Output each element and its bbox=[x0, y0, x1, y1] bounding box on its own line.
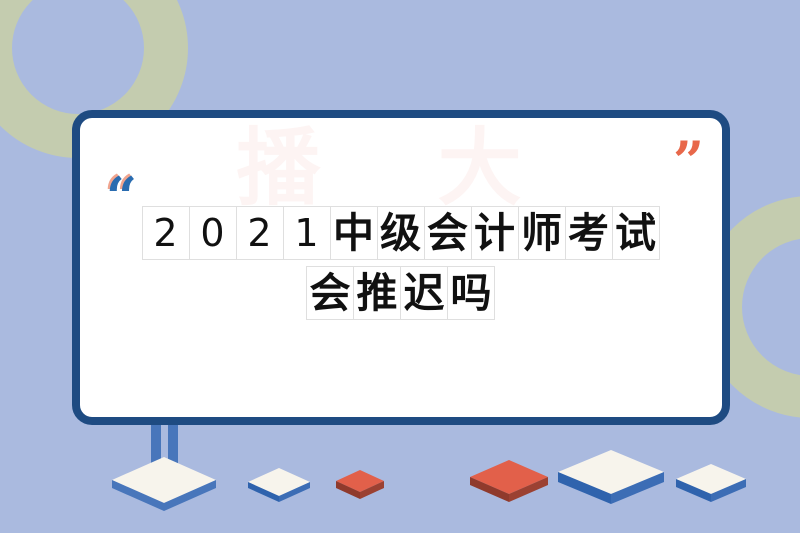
block-svg bbox=[470, 460, 548, 502]
cover-image-canvas: 播 大 “ ” 2021中级会计师考试 会推迟吗 bbox=[0, 0, 800, 533]
page-title: 2021中级会计师考试 会推迟吗 bbox=[80, 206, 722, 320]
title-line-1: 2021中级会计师考试 bbox=[80, 206, 722, 260]
title-char-cell: 2 bbox=[236, 206, 284, 260]
quote-close-icon: ” bbox=[673, 134, 704, 188]
title-char-cell: 会 bbox=[424, 206, 472, 260]
title-char-cell: 中 bbox=[330, 206, 378, 260]
title-char-cell: 师 bbox=[518, 206, 566, 260]
title-char-cell: 1 bbox=[283, 206, 331, 260]
block-svg bbox=[558, 450, 664, 504]
title-char-cell: 吗 bbox=[447, 266, 495, 320]
title-line-2: 会推迟吗 bbox=[80, 266, 722, 320]
title-char-cell: 会 bbox=[306, 266, 354, 320]
title-char-cell: 级 bbox=[377, 206, 425, 260]
title-char-cell: 考 bbox=[565, 206, 613, 260]
watermark-text: 播 大 bbox=[80, 126, 722, 210]
block-white-large bbox=[558, 450, 664, 504]
title-char-cell: 迟 bbox=[400, 266, 448, 320]
block-svg bbox=[248, 468, 310, 502]
block-svg bbox=[676, 464, 746, 502]
block-svg bbox=[336, 470, 384, 500]
title-char-cell: 0 bbox=[189, 206, 237, 260]
podium-top-face bbox=[112, 457, 216, 503]
podium-block-svg bbox=[112, 457, 216, 511]
block-red-large bbox=[470, 460, 548, 502]
block-red-small bbox=[336, 470, 384, 500]
title-char-cell: 计 bbox=[471, 206, 519, 260]
block-white-medium bbox=[676, 464, 746, 502]
podium-block bbox=[112, 457, 216, 511]
title-card: 播 大 “ ” 2021中级会计师考试 会推迟吗 bbox=[72, 110, 730, 425]
block-white-small-left bbox=[248, 468, 310, 502]
title-char-cell: 2 bbox=[142, 206, 190, 260]
title-char-cell: 推 bbox=[353, 266, 401, 320]
title-char-cell: 试 bbox=[612, 206, 660, 260]
